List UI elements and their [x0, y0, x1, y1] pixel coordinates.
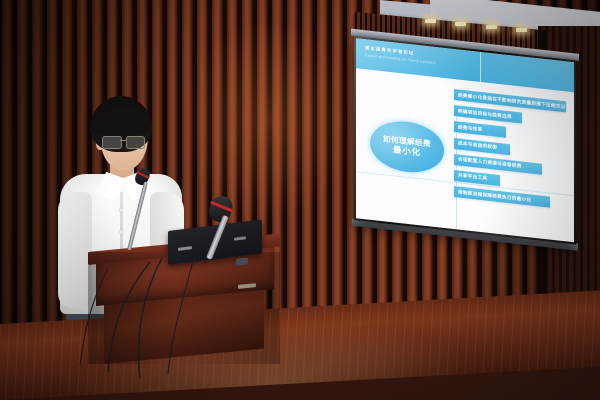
cable-1 — [108, 262, 150, 372]
cable-3 — [168, 250, 196, 374]
conference-photo: 第五届青年学者论坛 Career and Funding for Young S… — [0, 0, 600, 400]
cable-4 — [80, 268, 108, 366]
cable-2 — [139, 258, 162, 378]
cables — [0, 0, 600, 400]
